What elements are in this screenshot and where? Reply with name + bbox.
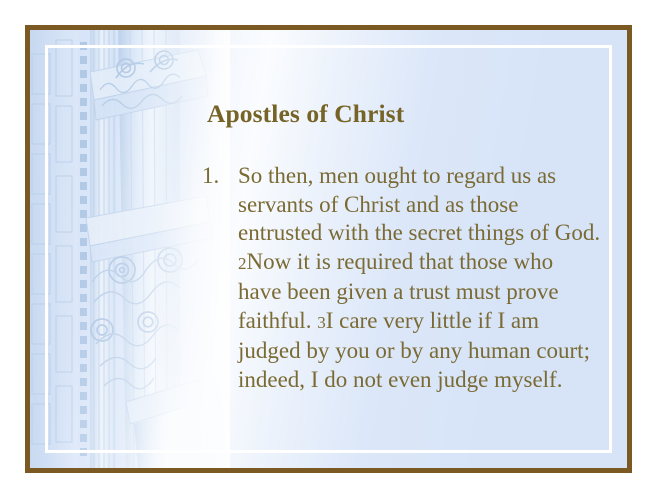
list-item-number: 1. xyxy=(202,162,219,191)
body-text-run: So then, men ought to regard us as serva… xyxy=(238,163,600,245)
slide-frame: Apostles of Christ 1. So then, men ought… xyxy=(25,25,632,473)
list-item: 1. So then, men ought to regard us as se… xyxy=(202,162,602,394)
slide-page: Apostles of Christ 1. So then, men ought… xyxy=(0,0,660,495)
slide-title: Apostles of Christ xyxy=(207,99,404,129)
slide-body-list: 1. So then, men ought to regard us as se… xyxy=(202,162,602,394)
verse-number: 3 xyxy=(317,313,326,332)
verse-number: 2 xyxy=(238,254,247,273)
slide-content: Apostles of Christ 1. So then, men ought… xyxy=(30,30,627,468)
list-item-text: So then, men ought to regard us as serva… xyxy=(238,163,600,392)
